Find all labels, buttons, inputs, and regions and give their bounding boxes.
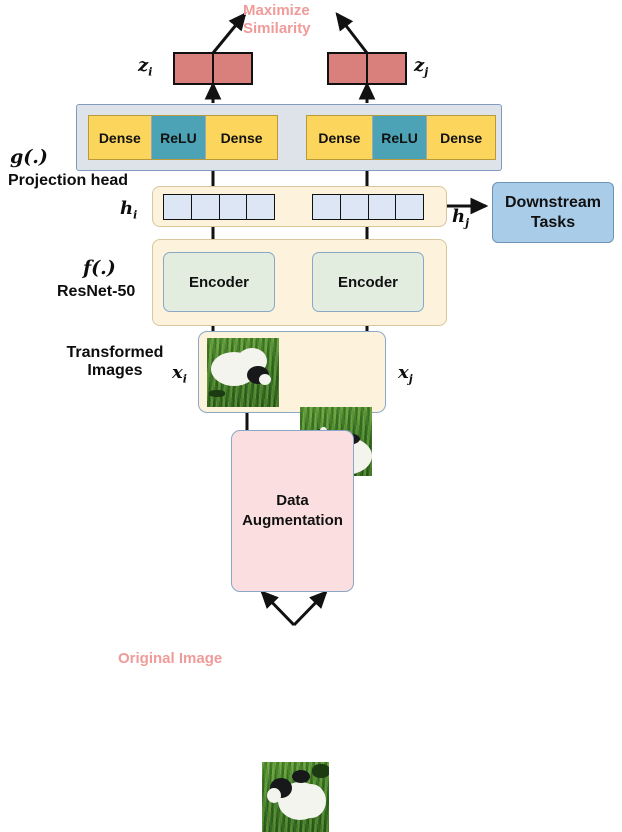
zi-label: zi [138,56,152,79]
xi-label-sub: i [183,373,187,386]
objective-label: Maximize Similarity [243,2,353,38]
transformed-images-label: Transformed Images [50,344,180,381]
xj-label-base: x [398,362,409,383]
augmentation-line1: Data [242,491,343,511]
augmentation-line2: Augmentation [242,511,343,531]
h-cell [341,195,369,219]
relu-layer: ReLU [373,116,428,159]
xj-label: xj [398,363,413,386]
arrow-original-to-aug-left [262,592,294,625]
xi-label-base: x [172,362,183,383]
hj-label-sub: j [465,217,469,230]
projection-head-branch-j: Dense ReLU Dense [306,115,496,160]
downstream-tasks-box[interactable]: Downstream Tasks [492,182,614,243]
h-cell [396,195,423,219]
h-cell [192,195,220,219]
transformed-images-label-line2: Images [50,362,180,380]
dense-layer: Dense [427,116,495,159]
transformed-image-i [207,338,279,407]
xi-label: xi [172,363,187,386]
foliage-dark [312,764,329,778]
dense-layer: Dense [89,116,152,159]
zj-label: zj [414,56,428,79]
resnet-label: ResNet-50 [57,283,135,301]
zi-label-sub: i [148,66,152,79]
dog-rear-white [296,784,326,818]
dense-layer: Dense [206,116,277,159]
objective-label-line1: Maximize [243,2,353,20]
dog-ear-white [259,374,271,385]
h-cell [247,195,274,219]
representation-vector-j [312,194,424,220]
z-vector-i [173,52,253,85]
h-cell [164,195,192,219]
original-image-label: Original Image [118,650,222,668]
projection-head-branch-i: Dense ReLU Dense [88,115,278,160]
dense-layer: Dense [307,116,373,159]
z-cell [175,54,214,83]
dog-shoulder-dark [292,770,310,783]
f-function-label: f(.) [83,258,116,280]
hi-label-base: h [120,198,133,219]
data-augmentation-box: Data Augmentation [231,430,354,592]
transformed-images-label-line1: Transformed [50,344,180,362]
zj-label-sub: j [424,66,428,79]
z-cell [368,54,405,83]
dog-leaf-dark [209,390,225,397]
z-cell [329,54,368,83]
downstream-line2: Tasks [505,213,601,233]
xj-label-sub: j [409,373,413,386]
downstream-line1: Downstream [505,193,601,213]
objective-label-line2: Similarity [243,20,353,38]
hi-label: hi [120,199,137,222]
projection-head-label: Projection head [8,172,128,190]
encoder-j: Encoder [312,252,424,312]
h-cell [220,195,248,219]
z-vector-j [327,52,407,85]
h-cell [313,195,341,219]
original-image [262,762,329,832]
z-cell [214,54,251,83]
zj-label-base: z [414,55,424,76]
relu-layer: ReLU [152,116,207,159]
hj-label-base: h [452,206,465,227]
g-function-label: g(.) [10,147,48,169]
representation-vector-i [163,194,275,220]
encoder-i: Encoder [163,252,275,312]
hj-label: hj [452,207,469,230]
diagram-canvas: Maximize Similarity zi zj Dense ReLU Den… [0,0,622,701]
dog-muzzle-white [267,788,281,803]
zi-label-base: z [138,55,148,76]
arrow-zi-to-objective [213,14,245,53]
h-cell [369,195,397,219]
arrow-original-to-aug-right [294,592,326,625]
hi-label-sub: i [133,209,137,222]
